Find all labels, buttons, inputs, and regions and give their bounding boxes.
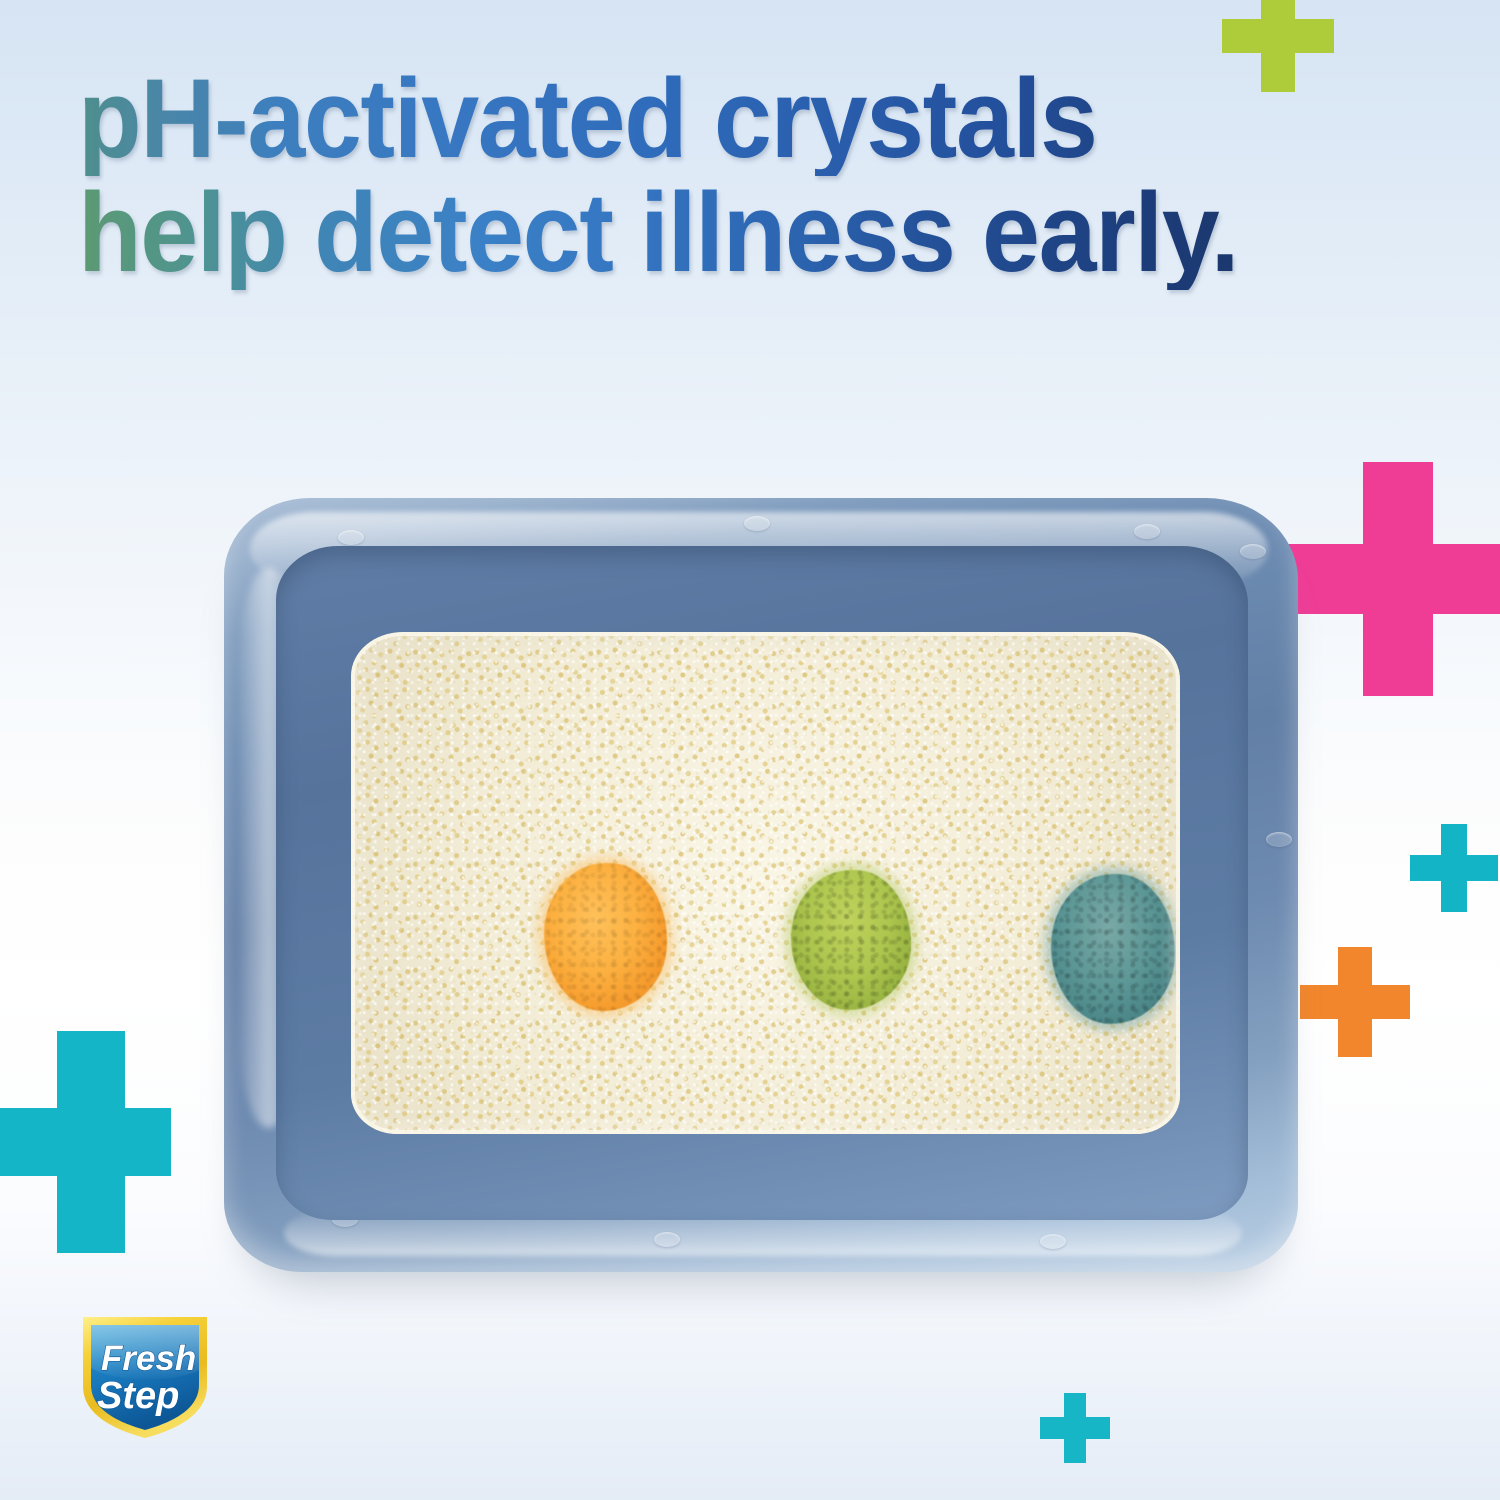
headline-block: pH-activated crystals help detect illnes…: [78, 62, 1408, 290]
cross-teal-bottom-icon: [1040, 1393, 1110, 1463]
cross-orange-icon: [1300, 947, 1410, 1057]
litter-box-image: [224, 498, 1298, 1272]
logo-text-step: Step: [97, 1375, 179, 1417]
litter-tray-shell: [224, 498, 1298, 1272]
ph-spot-speckle: [1051, 874, 1175, 1024]
cross-vertical-bar: [57, 1031, 125, 1253]
tray-dimple: [744, 516, 770, 531]
cross-pink-icon: [1281, 462, 1500, 696]
headline-line-1: pH-activated crystals: [78, 62, 1315, 176]
ph-spot-teal: [1051, 874, 1175, 1024]
litter-tray-inner-wall: [276, 546, 1248, 1220]
cross-teal-right-icon: [1410, 824, 1498, 912]
ph-spot-speckle: [544, 863, 667, 1011]
crystal-litter-bed: [351, 632, 1180, 1134]
tray-dimple: [1134, 524, 1160, 539]
tray-dimple: [1266, 832, 1292, 847]
ph-spot-orange: [544, 863, 667, 1011]
promo-image-canvas: pH-activated crystals help detect illnes…: [0, 0, 1500, 1500]
cross-vertical-bar: [1064, 1393, 1086, 1463]
logo-text-fresh: Fresh: [101, 1339, 196, 1378]
litter-grain-texture: [351, 632, 1180, 1134]
tray-dimple: [1040, 1234, 1066, 1249]
tray-dimple: [654, 1232, 680, 1247]
litter-bed-edge: [351, 632, 1180, 1134]
fresh-step-logo: Fresh Step: [74, 1308, 216, 1442]
headline-line-2: help detect illness early.: [78, 176, 1315, 290]
cross-vertical-bar: [1441, 824, 1467, 912]
cross-vertical-bar: [1363, 462, 1433, 696]
ph-spot-green: [791, 870, 911, 1010]
cross-vertical-bar: [1338, 947, 1372, 1057]
cross-teal-left-icon: [0, 1031, 171, 1253]
ph-spot-speckle: [791, 870, 911, 1010]
tray-dimple: [1240, 544, 1266, 559]
tray-dimple: [338, 530, 364, 545]
